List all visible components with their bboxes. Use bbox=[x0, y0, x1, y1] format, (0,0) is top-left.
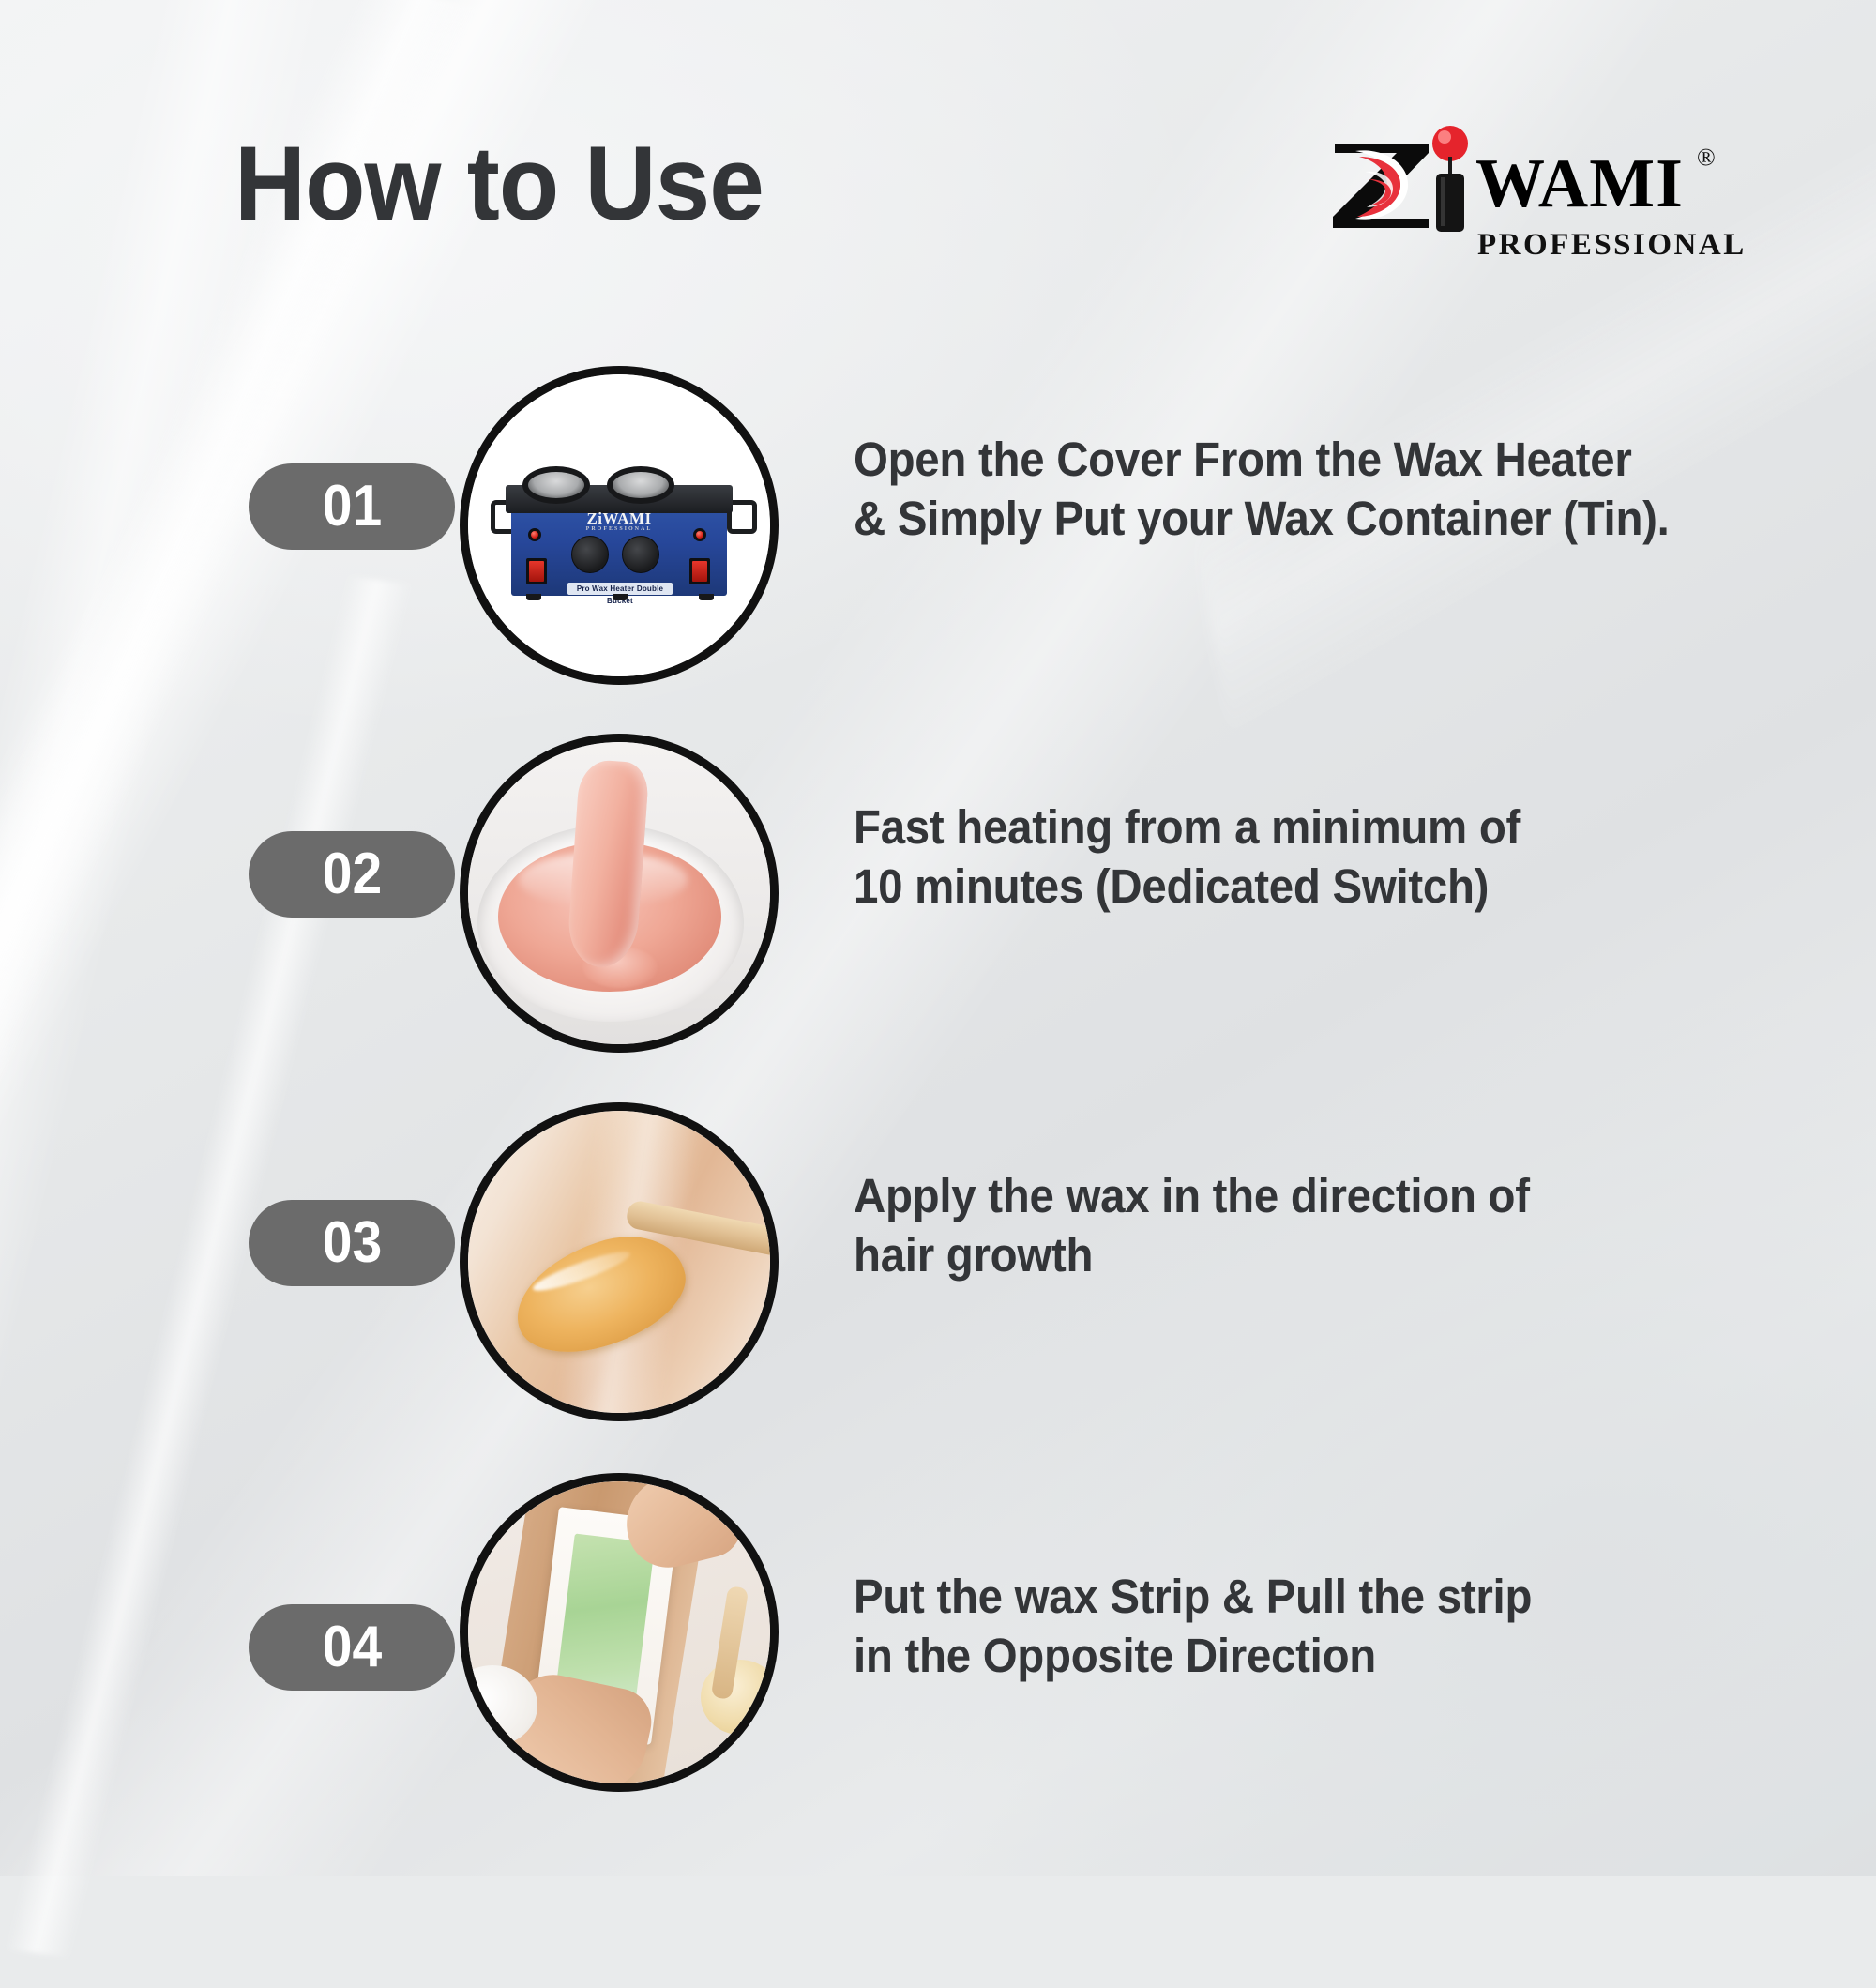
step-description: Fast heating from a minimum of 10 minute… bbox=[854, 797, 1734, 916]
brand-tagline: PROFESSIONAL bbox=[1477, 228, 1747, 263]
step-number-badge: 01 bbox=[249, 463, 455, 550]
brand-i-applicator-icon bbox=[1429, 125, 1472, 235]
step-item-04: 04 Put the wax Strip & Pull the strip in… bbox=[0, 1473, 1876, 1792]
step-description-line: Put the wax Strip & Pull the strip bbox=[854, 1567, 1734, 1626]
brand-logo-wordmark-row: WAMI ® bbox=[1327, 136, 1702, 234]
brand-z-monogram-icon bbox=[1327, 138, 1438, 232]
step-image-circle: ZiWAMIPROFESSIONAL Pro Wax Heater Double… bbox=[460, 366, 779, 685]
wax-strip-on-leg-photo bbox=[468, 1481, 770, 1783]
step-image-circle bbox=[460, 734, 779, 1053]
step-number-label: 01 bbox=[322, 478, 381, 536]
step-item-01: 01 ZiWAMIPROFESSIONAL Pro Wax Heater Dou… bbox=[0, 366, 1876, 685]
step-description-line: hair growth bbox=[854, 1225, 1734, 1284]
step-description: Put the wax Strip & Pull the strip in th… bbox=[854, 1567, 1734, 1685]
page-title: How to Use bbox=[234, 131, 764, 236]
wax-heater-double-bucket-photo: ZiWAMIPROFESSIONAL Pro Wax Heater Double… bbox=[468, 374, 770, 676]
step-image-circle bbox=[460, 1102, 779, 1421]
step-description-line: Apply the wax in the direction of bbox=[854, 1166, 1734, 1225]
step-description-line: Fast heating from a minimum of bbox=[854, 797, 1734, 857]
step-description-line: & Simply Put your Wax Container (Tin). bbox=[854, 489, 1734, 548]
step-number-badge: 02 bbox=[249, 831, 455, 918]
applying-honey-wax-on-skin-photo bbox=[468, 1111, 770, 1413]
brand-name-text: WAMI bbox=[1475, 149, 1684, 219]
step-item-03: 03 Apply the wax in the direction of hai… bbox=[0, 1102, 1876, 1421]
step-number-badge: 03 bbox=[249, 1200, 455, 1286]
brand-logo: WAMI ® PROFESSIONAL bbox=[1327, 136, 1702, 272]
registered-trademark-icon: ® bbox=[1697, 144, 1716, 172]
melted-pink-wax-bowl-photo bbox=[468, 742, 770, 1044]
step-image-circle bbox=[460, 1473, 779, 1792]
step-description-line: Open the Cover From the Wax Heater bbox=[854, 430, 1734, 489]
step-number-label: 02 bbox=[322, 845, 381, 903]
step-description-line: 10 minutes (Dedicated Switch) bbox=[854, 857, 1734, 916]
step-description: Apply the wax in the direction of hair g… bbox=[854, 1166, 1734, 1284]
step-number-label: 03 bbox=[322, 1214, 381, 1272]
step-item-02: 02 Fast heating from a minimum of 10 min… bbox=[0, 734, 1876, 1053]
step-description: Open the Cover From the Wax Heater & Sim… bbox=[854, 430, 1734, 548]
step-description-line: in the Opposite Direction bbox=[854, 1626, 1734, 1685]
step-number-label: 04 bbox=[322, 1618, 381, 1677]
step-number-badge: 04 bbox=[249, 1604, 455, 1691]
infographic-page: How to Use WAMI ® PROFESSIONAL bbox=[0, 0, 1876, 1876]
